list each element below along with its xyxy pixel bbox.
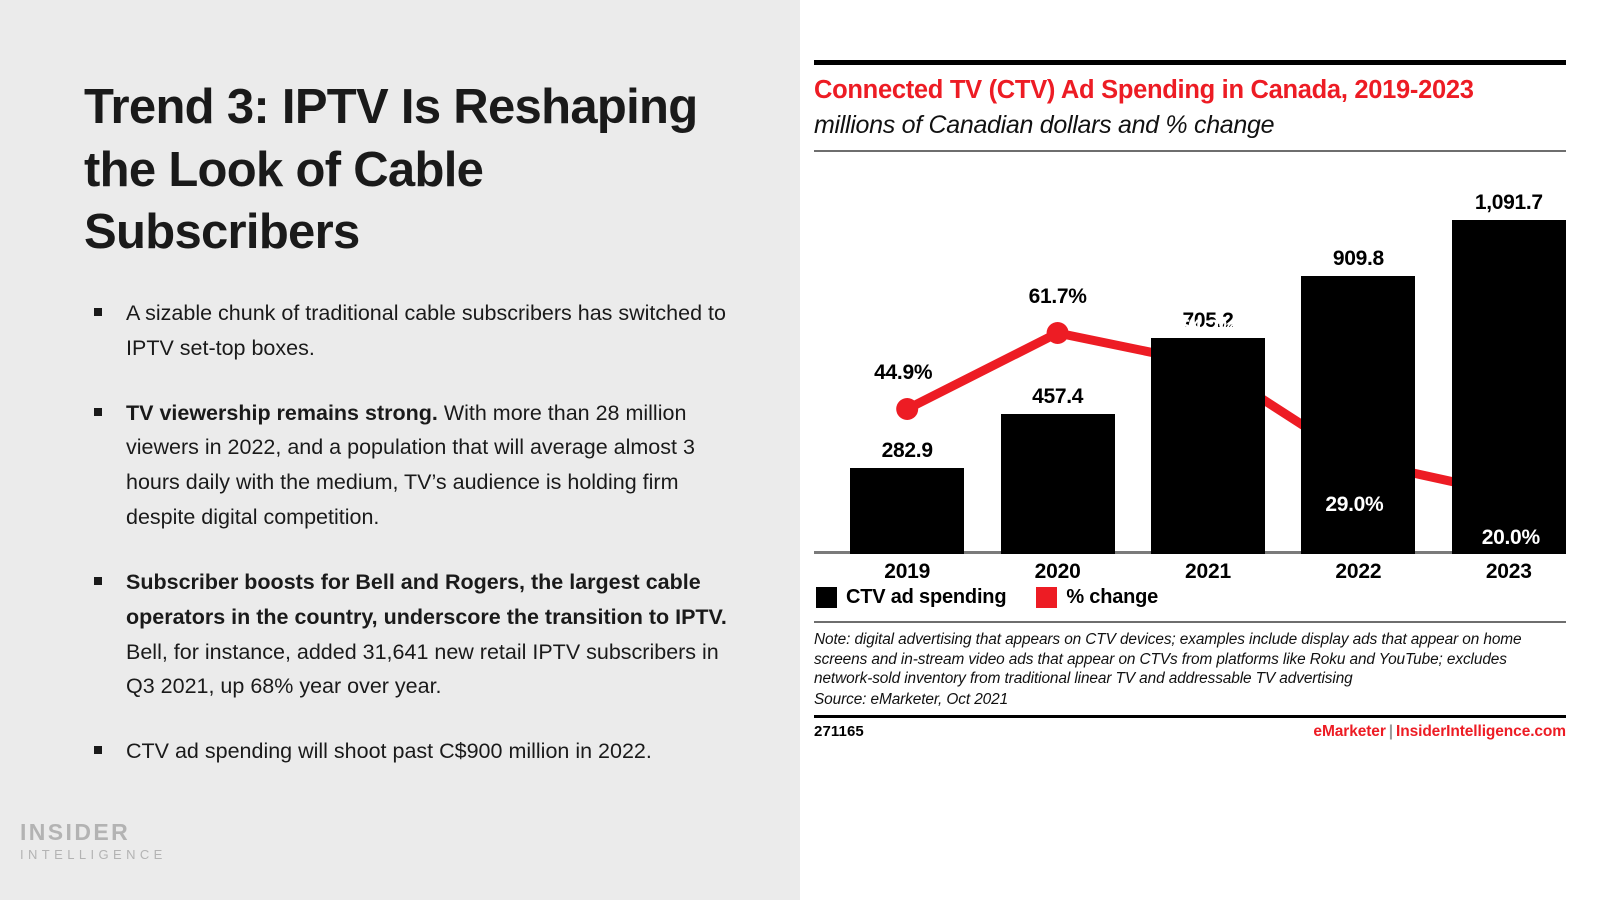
- logo-line-intelligence: INTELLIGENCE: [20, 846, 167, 864]
- data-point-2019[interactable]: [896, 398, 918, 420]
- list-item-text: Bell, for instance, added 31,641 new ret…: [126, 640, 719, 699]
- left-content-panel: Trend 3: IPTV Is Reshaping the Look of C…: [0, 0, 800, 900]
- bullet-square-icon: [94, 577, 102, 585]
- list-item-lead: Subscriber boosts for Bell and Rogers, t…: [126, 570, 727, 629]
- legend-label-percent-change: % change: [1066, 586, 1158, 609]
- bar-value-label-2020: 457.4: [971, 385, 1145, 409]
- logo-line-insider: INSIDER: [20, 819, 167, 845]
- brand-separator: |: [1386, 723, 1396, 740]
- x-axis-tick-2022: 2022: [1271, 560, 1445, 584]
- list-item: CTV ad spending will shoot past C$900 mi…: [88, 734, 740, 769]
- chart-plot-area: 282.92019457.42020705.22021909.820221,09…: [814, 156, 1566, 576]
- chart-subtitle: millions of Canadian dollars and % chang…: [814, 106, 1566, 150]
- chart-source: Source: eMarketer, Oct 2021: [814, 689, 1566, 709]
- page-title: Trend 3: IPTV Is Reshaping the Look of C…: [84, 76, 724, 264]
- legend-item-ctv-ad-spending[interactable]: CTV ad spending: [816, 586, 1006, 609]
- percent-change-label-2020: 61.7%: [988, 285, 1128, 309]
- x-axis-tick-2021: 2021: [1121, 560, 1295, 584]
- bar-2020[interactable]: [1001, 414, 1115, 554]
- legend-label-ctv-ad-spending: CTV ad spending: [846, 586, 1006, 609]
- slide-root: Trend 3: IPTV Is Reshaping the Look of C…: [0, 0, 1600, 900]
- bar-value-label-2019: 282.9: [820, 439, 994, 463]
- bar-2019[interactable]: [850, 468, 964, 555]
- list-item: TV viewership remains strong. With more …: [88, 396, 740, 535]
- bullet-list: A sizable chunk of traditional cable sub…: [88, 296, 740, 769]
- bar-2021[interactable]: [1151, 338, 1265, 554]
- percent-change-label-2021: 54.2%: [1138, 316, 1278, 340]
- chart-card: Connected TV (CTV) Ad Spending in Canada…: [814, 60, 1566, 741]
- brand-emarketer: eMarketer: [1313, 723, 1385, 740]
- right-chart-panel: Connected TV (CTV) Ad Spending in Canada…: [800, 0, 1600, 900]
- brand-attribution: eMarketer|InsiderIntelligence.com: [1313, 723, 1566, 741]
- list-item: A sizable chunk of traditional cable sub…: [88, 296, 740, 366]
- bullet-square-icon: [94, 408, 102, 416]
- chart-note: Note: digital advertising that appears o…: [814, 630, 1566, 688]
- x-axis-tick-2023: 2023: [1422, 560, 1596, 584]
- percent-change-label-2022: 29.0%: [1284, 493, 1424, 517]
- chart-title: Connected TV (CTV) Ad Spending in Canada…: [814, 65, 1566, 106]
- list-item-text: A sizable chunk of traditional cable sub…: [126, 301, 726, 360]
- bullet-square-icon: [94, 746, 102, 754]
- bar-2023[interactable]: [1452, 220, 1566, 555]
- insider-intelligence-logo: INSIDER INTELLIGENCE: [20, 819, 167, 864]
- x-axis-tick-2019: 2019: [820, 560, 994, 584]
- percent-change-label-2019: 44.9%: [833, 361, 973, 385]
- brand-insiderintelligence[interactable]: InsiderIntelligence.com: [1396, 723, 1566, 740]
- percent-change-label-2023: 20.0%: [1441, 526, 1581, 550]
- list-item: Subscriber boosts for Bell and Rogers, t…: [88, 565, 740, 704]
- legend-swatch-red: [1036, 587, 1057, 608]
- chart-footer: 271165 eMarketer|InsiderIntelligence.com: [814, 718, 1566, 741]
- chart-title-divider: [814, 150, 1566, 152]
- chart-footnotes: Note: digital advertising that appears o…: [814, 623, 1566, 715]
- chart-id: 271165: [814, 723, 864, 740]
- list-item-text: CTV ad spending will shoot past C$900 mi…: [126, 739, 652, 763]
- bar-value-label-2023: 1,091.7: [1422, 191, 1596, 215]
- legend-item-percent-change[interactable]: % change: [1036, 586, 1158, 609]
- bullet-square-icon: [94, 308, 102, 316]
- bar-value-label-2022: 909.8: [1271, 247, 1445, 271]
- x-axis-tick-2020: 2020: [971, 560, 1145, 584]
- legend-swatch-black: [816, 587, 837, 608]
- data-point-2020[interactable]: [1047, 322, 1069, 344]
- list-item-lead: TV viewership remains strong.: [126, 401, 438, 425]
